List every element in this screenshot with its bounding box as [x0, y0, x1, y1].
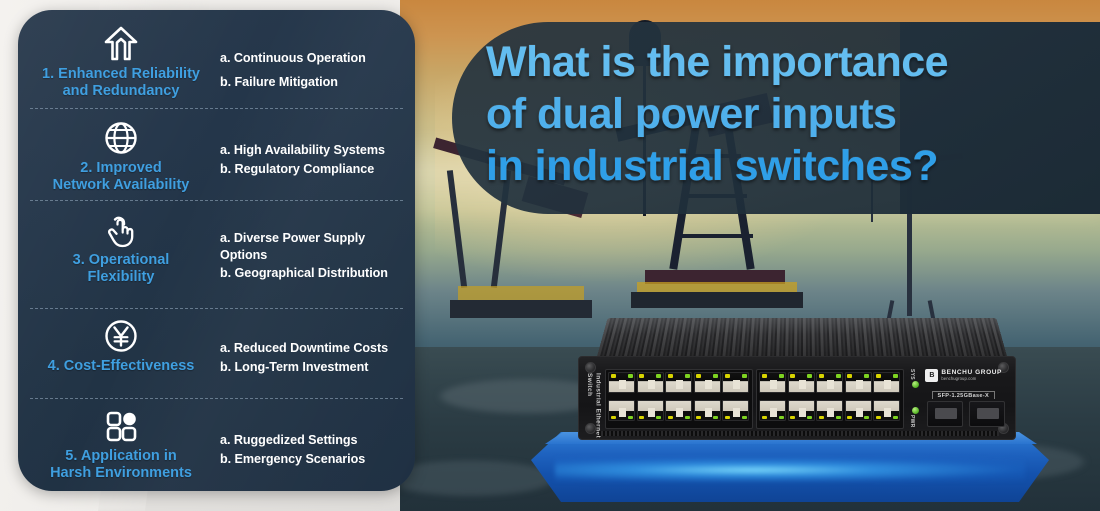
port-bank-right [756, 369, 904, 429]
up-arrow-icon [101, 24, 141, 64]
rj45-port [873, 372, 900, 393]
benefit-point: a. High Availability Systems [220, 142, 407, 159]
benefit-point: b. Emergency Scenarios [220, 451, 407, 468]
benefit-point: b. Long-Term Investment [220, 359, 407, 376]
benefit-title-2: 2. Improved Network Availability [53, 160, 190, 193]
benefit-item-2[interactable]: 2. Improved Network Availability a. High… [18, 118, 415, 193]
benefit-title-5: 5. Application in Harsh Environments [50, 448, 192, 481]
hand-tap-icon [102, 210, 140, 250]
benefit-point: b. Regulatory Compliance [220, 161, 407, 178]
switch-faceplate: Industrial Ethernet Switch [578, 356, 1016, 440]
rj45-port [845, 400, 872, 421]
rj45-port [694, 400, 721, 421]
sfp-slot [927, 401, 963, 427]
rj45-port [845, 372, 872, 393]
screw-icon [585, 362, 596, 373]
brand-url: benchugroup.com [941, 377, 1002, 381]
pedestal-glow [555, 458, 1025, 482]
rj45-port [608, 400, 635, 421]
benefit-point: a. Diverse Power Supply Options [220, 230, 407, 263]
rj45-port [722, 372, 749, 393]
infographic-banner: Industrial Ethernet Switch [0, 0, 1100, 511]
headline-line-1: What is the importance [486, 36, 1096, 88]
rj45-port [788, 372, 815, 393]
benefit-item-3[interactable]: 3. Operational Flexibility a. Diverse Po… [18, 210, 415, 285]
brand-logo: B BENCHU GROUP benchugroup.com [925, 369, 1002, 382]
divider [30, 398, 403, 399]
rj45-port [816, 400, 843, 421]
brand-mark-icon: B [925, 369, 938, 382]
benefit-point: a. Reduced Downtime Costs [220, 340, 407, 357]
rj45-port [759, 372, 786, 393]
sys-led-label: SYS [909, 369, 915, 380]
yen-circle-icon [102, 316, 140, 356]
sfp-label: SFP-1.25GBase-X [932, 391, 995, 399]
sfp-slot [969, 401, 1005, 427]
pwr-led-icon [912, 407, 919, 414]
divider [30, 308, 403, 309]
headline-line-2: of dual power inputs [486, 88, 1096, 140]
rj45-port [637, 372, 664, 393]
benefit-point: a. Ruggedized Settings [220, 432, 407, 449]
benefits-panel: 1. Enhanced Reliability and Redundancy a… [18, 10, 415, 491]
benefit-title-1: 1. Enhanced Reliability and Redundancy [42, 66, 200, 99]
rj45-port [665, 400, 692, 421]
benefit-item-4[interactable]: 4. Cost-Effectiveness a. Reduced Downtim… [18, 316, 415, 375]
headline-line-3: in industrial switches? [486, 140, 1096, 192]
benefit-point: b. Failure Mitigation [220, 74, 407, 91]
page-title: What is the importance of dual power inp… [486, 36, 1096, 192]
sys-led-icon [912, 381, 919, 388]
benefit-point: b. Geographical Distribution [220, 265, 407, 282]
benefit-title-4: 4. Cost-Effectiveness [48, 358, 195, 375]
benefit-item-5[interactable]: 5. Application in Harsh Environments a. … [18, 406, 415, 481]
benefit-point: a. Continuous Operation [220, 50, 407, 67]
benefit-item-1[interactable]: 1. Enhanced Reliability and Redundancy a… [18, 24, 415, 99]
rj45-port [759, 400, 786, 421]
rj45-port [694, 372, 721, 393]
bottom-vent [599, 431, 999, 436]
rj45-port [637, 400, 664, 421]
pwr-led-label: PWR [909, 415, 915, 428]
divider [30, 108, 403, 109]
divider [30, 200, 403, 201]
rj45-port [816, 372, 843, 393]
rj45-port [722, 400, 749, 421]
rj45-port [608, 372, 635, 393]
heatsink-shading [596, 318, 1008, 360]
globe-icon [102, 118, 140, 158]
grid-blocks-icon [103, 406, 139, 446]
port-bank-left [605, 369, 753, 429]
benefit-title-3: 3. Operational Flexibility [73, 252, 170, 285]
rj45-port [788, 400, 815, 421]
switch-vertical-label: Industrial Ethernet Switch [585, 373, 601, 438]
rj45-port [873, 400, 900, 421]
rj45-port [665, 372, 692, 393]
industrial-ethernet-switch: Industrial Ethernet Switch [578, 312, 1016, 440]
